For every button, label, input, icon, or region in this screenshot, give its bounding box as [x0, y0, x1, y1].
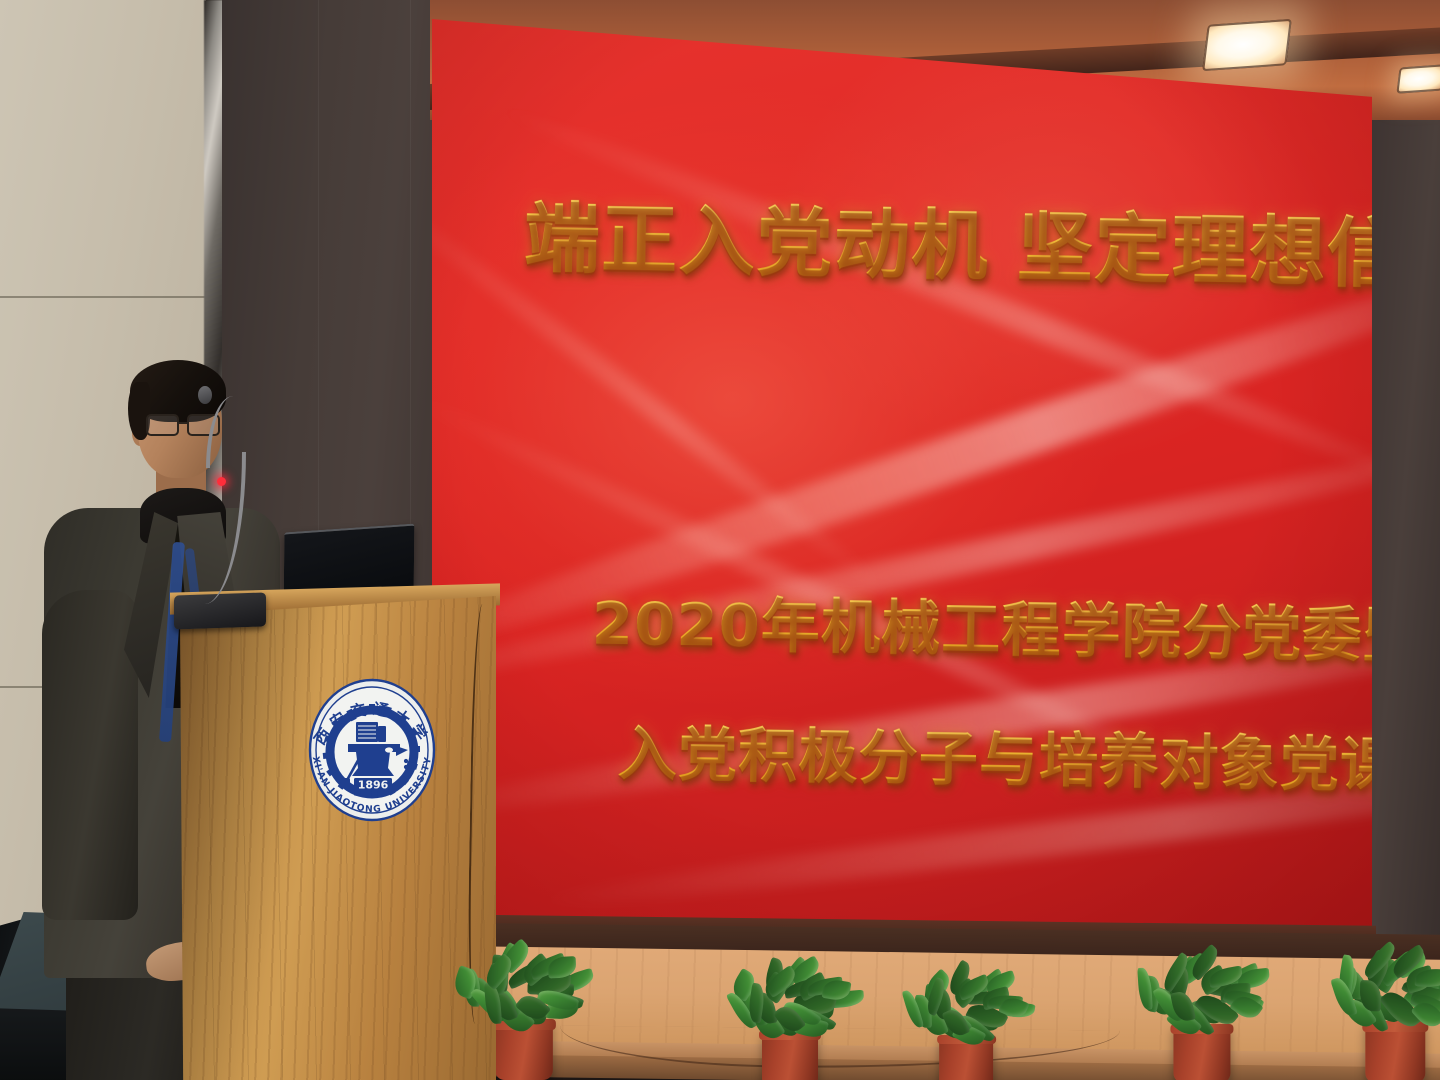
- plant-foliage: [1300, 930, 1440, 1032]
- microphone-capsule: [198, 386, 212, 404]
- university-emblem: 1896 西安交通大学 XI'AN JIAOTONG UNIVERSITY: [296, 664, 448, 836]
- potted-plant-4: [1110, 936, 1294, 1080]
- emblem-year: 1896: [358, 779, 389, 792]
- potted-plant-5: [1300, 930, 1440, 1080]
- screen-subtitle-line-2: 入党积极分子与培养对象党课: [617, 706, 1372, 803]
- right-dark-wall: [1368, 78, 1440, 1018]
- plant-foliage: [700, 944, 880, 1040]
- potted-plant-2: [700, 944, 880, 1080]
- plant-foliage: [1110, 936, 1294, 1034]
- screen-title: 端正入党动机 坚定理想信念: [523, 176, 1372, 304]
- led-display-screen: 端正入党动机 坚定理想信念 2020年机械工程学院分党委暨党校 入党积极分子与培…: [432, 0, 1372, 950]
- plant-foliage: [880, 952, 1053, 1044]
- plant-leaf: [1137, 967, 1153, 1010]
- ceiling-light-panel-secondary: [1396, 64, 1440, 93]
- auditorium-photo-scene: 端正入党动机 坚定理想信念 2020年机械工程学院分党委暨党校 入党积极分子与培…: [0, 0, 1440, 1080]
- screen-vignette: [432, 0, 1372, 950]
- microphone-led-indicator: [217, 477, 226, 486]
- microphone-base[interactable]: [174, 592, 266, 629]
- plant-pot: [1366, 1021, 1425, 1080]
- presenter-arm: [42, 590, 138, 920]
- potted-plant-3: [880, 952, 1053, 1080]
- ceiling-light-panel: [1202, 19, 1292, 71]
- screen-subtitle-line-1: 2020年机械工程学院分党委暨党校: [591, 576, 1372, 676]
